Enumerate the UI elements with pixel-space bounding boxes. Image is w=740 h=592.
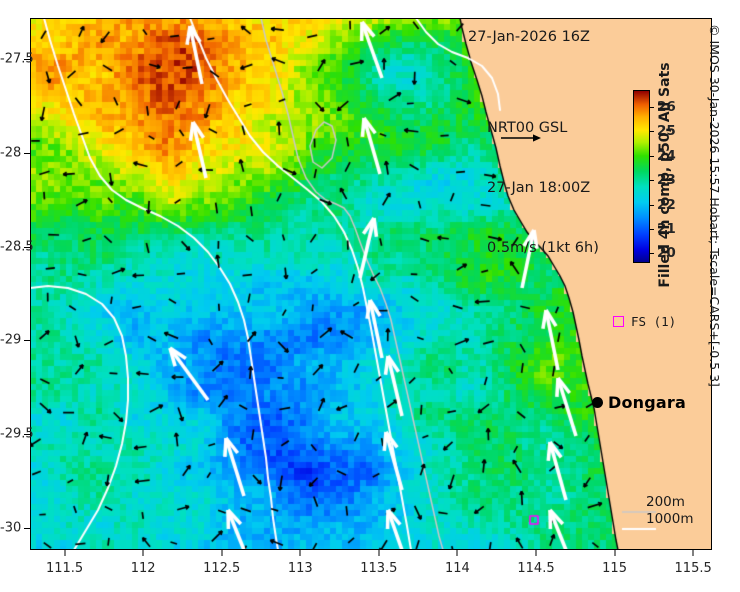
colorbar-tick-mark [650,253,654,254]
colorbar-tick-mark [650,131,654,132]
fs-legend-label: FS (1) [631,314,676,329]
map-plot-area[interactable] [30,18,712,550]
product-line-2: 0.5m/s (1kt 6h) [487,238,599,258]
product-annotation: NRT00 GSL 27-Jan 18:00Z 0.5m/s (1kt 6h) [487,78,599,298]
colorbar-tick-mark [650,156,654,157]
x-tick-mark [64,550,65,556]
y-tick-mark [24,153,30,154]
x-tick-mark [457,550,458,556]
x-tick-mark [221,550,222,556]
x-tick-mark [536,550,537,556]
colorbar-tick-mark [650,180,654,181]
depth-label-1000m: 1000m [646,511,694,528]
x-tick-mark [300,550,301,556]
x-tick-mark [693,550,694,556]
town-marker-dongara[interactable]: Dongara [592,393,686,412]
x-tick-label: 114.5 [517,561,554,576]
fs-swatch-icon [613,316,624,327]
product-line-1: 27-Jan 18:00Z [487,178,599,198]
x-tick-label: 114 [445,561,470,576]
y-tick-label: -28 [0,145,21,160]
credit-text: © IMOS 30-Jan-2026 15:57 Hobart; Tscale=… [707,24,722,564]
x-tick-label: 115 [602,561,627,576]
x-tick-mark [378,550,379,556]
colorbar-title: Filled 4h comp, p50, All Sats [657,60,673,290]
fs-legend[interactable]: FS (1) [613,314,676,329]
sst-map-figure: 27-Jan-2026 16Z NRT00 GSL 27-Jan 18:00Z … [0,0,740,592]
y-tick-label: -29 [0,333,21,348]
x-tick-label: 112 [131,561,156,576]
town-label: Dongara [608,393,686,412]
sst-heatmap-canvas[interactable] [30,18,712,550]
y-tick-mark [24,528,30,529]
y-tick-label: -28.5 [0,239,21,254]
x-tick-label: 113.5 [360,561,397,576]
x-tick-label: 113 [288,561,313,576]
colorbar[interactable]: 26252423222120 [633,90,650,263]
colorbar-gradient [633,90,650,263]
y-tick-mark [24,340,30,341]
y-tick-label: -27.5 [0,52,21,67]
colorbar-tick-mark [650,229,654,230]
x-tick-mark [614,550,615,556]
x-tick-label: 111.5 [46,561,83,576]
datetime-annotation: 27-Jan-2026 16Z [468,29,590,45]
velocity-scale-arrow-icon [500,131,542,145]
y-tick-label: -30 [0,520,21,535]
colorbar-tick-mark [650,107,654,108]
depth-contour-scale: 200m 1000m [646,494,694,528]
x-tick-mark [143,550,144,556]
colorbar-tick-mark [650,205,654,206]
x-tick-label: 112.5 [203,561,240,576]
town-dot-icon [592,397,603,408]
y-tick-label: -29.5 [0,426,21,441]
depth-label-200m: 200m [646,494,694,511]
